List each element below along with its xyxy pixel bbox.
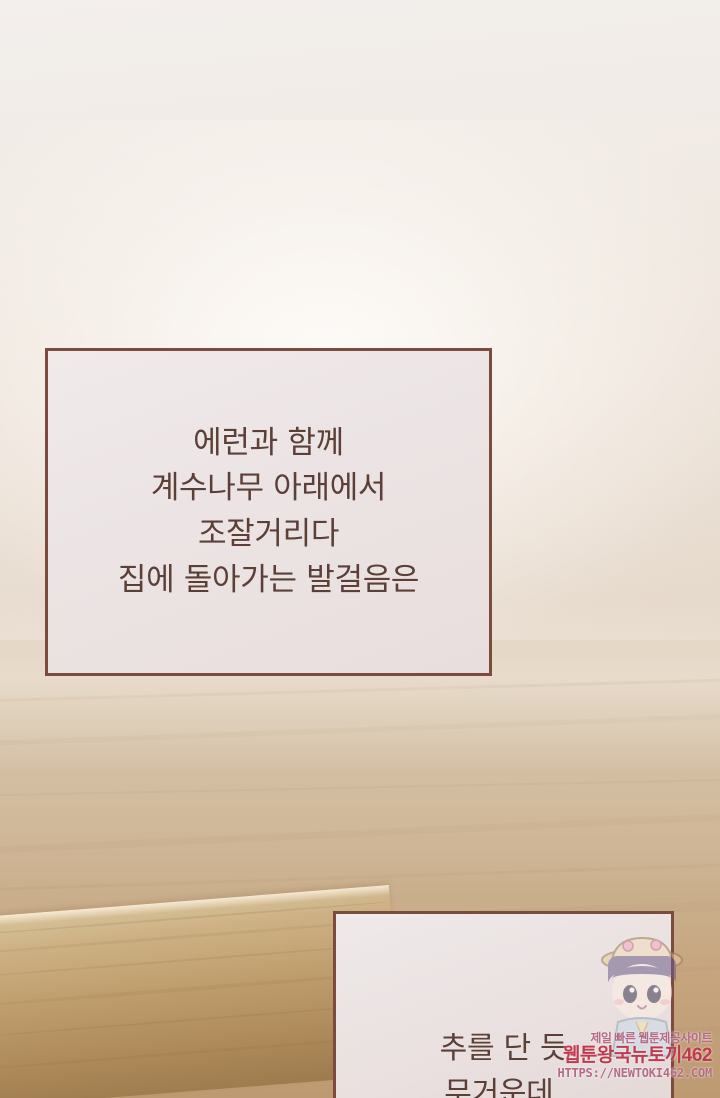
narration-text-top: 에런과 함께 계수나무 아래에서 조잘거리다 집에 돌아가는 발걸음은 [118, 421, 419, 603]
narration-panel-top: 에런과 함께 계수나무 아래에서 조잘거리다 집에 돌아가는 발걸음은 [45, 348, 492, 676]
narration-text-bottom: 추를 단 듯 무거운데, [440, 1027, 568, 1098]
webtoon-page: 에런과 함께 계수나무 아래에서 조잘거리다 집에 돌아가는 발걸음은 추를 단… [0, 0, 720, 1098]
narration-panel-bottom: 추를 단 듯 무거운데, [333, 911, 674, 1098]
